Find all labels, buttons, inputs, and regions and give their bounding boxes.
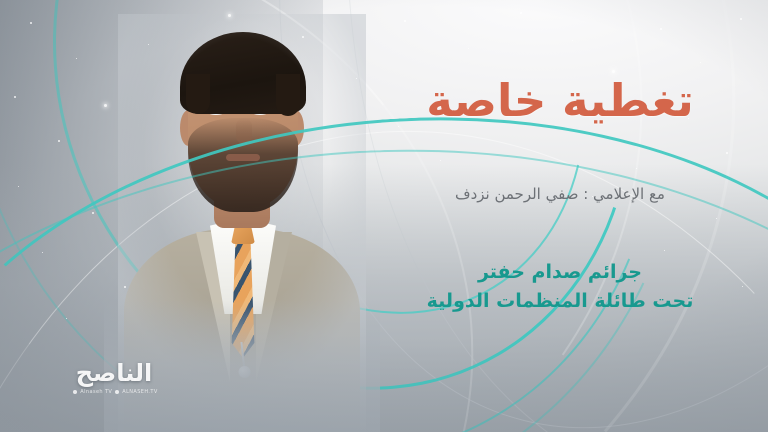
channel-social-handles: Alnaseh TVALNASEH.TV	[48, 389, 180, 395]
presenter-credit: مع الإعلامي : صفي الرحمن نزدف	[386, 184, 734, 205]
globe-icon	[115, 390, 119, 394]
broadcast-lower-third-screen: تغطية خاصة مع الإعلامي : صفي الرحمن نزدف…	[0, 0, 768, 432]
headline-line-1: جرائم صدام حفتر	[386, 258, 734, 287]
facebook-icon	[73, 390, 77, 394]
text-column: تغطية خاصة مع الإعلامي : صفي الرحمن نزدف…	[386, 0, 734, 432]
channel-logo: الناصح Alnaseh TVALNASEH.TV	[48, 360, 180, 408]
channel-logo-wordmark: الناصح	[48, 360, 180, 386]
news-headline: جرائم صدام حفتر تحت طائلة المنظمات الدول…	[386, 258, 734, 315]
headline-line-2: تحت طائلة المنظمات الدولية	[386, 287, 734, 316]
handle-facebook: Alnaseh TV	[80, 389, 112, 395]
program-title: تغطية خاصة	[386, 78, 734, 123]
handle-site: ALNASEH.TV	[122, 389, 157, 395]
